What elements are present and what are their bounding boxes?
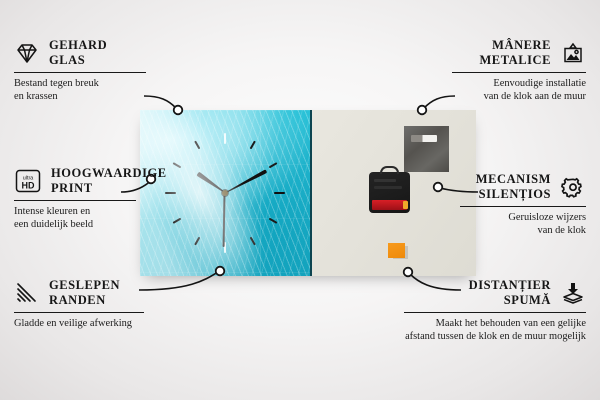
callout-description: Geruisloze wijzersvan de klok: [460, 211, 586, 238]
callout-gehard-glas[interactable]: GEHARDGLAS Bestand tegen breuken krassen: [14, 38, 146, 104]
callout-rule: [14, 312, 144, 313]
clock-mechanism: [369, 172, 410, 213]
callout-description: Eenvoudige installatievan de klok aan de…: [452, 77, 586, 104]
callout-rule: [404, 312, 586, 313]
foam-spacer: [388, 243, 405, 258]
callout-mecanism-silentios[interactable]: MECANISMSILENȚIOS Geruisloze wijzersvan …: [460, 172, 586, 238]
callout-geslepen-randen[interactable]: GESLEPENRANDEN Gladde en veilige afwerki…: [14, 278, 144, 330]
clock-minute-hand: [224, 169, 267, 195]
callout-title-row: GESLEPENRANDEN: [14, 278, 144, 308]
ultra-hd-icon: ultra HD: [14, 168, 42, 194]
callout-title-text: MÂNEREMETALICE: [452, 38, 551, 68]
clock-hour-hand: [196, 171, 227, 195]
clock-tick: [225, 192, 285, 194]
gear-icon: [560, 175, 586, 199]
callout-title-text: HOOGWAARDIGEPRINT: [51, 166, 167, 196]
callout-manere-metalice[interactable]: MÂNEREMETALICE Eenvoudige installatievan…: [452, 38, 586, 104]
clock-tick: [224, 141, 256, 194]
callout-title-row: MÂNEREMETALICE: [452, 38, 586, 68]
clock-tick: [224, 133, 226, 193]
callout-title-text: DISTANȚIERSPUMĂ: [404, 278, 551, 308]
callout-title-row: GEHARDGLAS: [14, 38, 146, 68]
callout-description: Gladde en veilige afwerking: [14, 317, 144, 330]
callout-title-text: MECANISMSILENȚIOS: [460, 172, 551, 202]
clock-back-view: [312, 110, 476, 276]
callout-rule: [14, 72, 146, 73]
callout-hoogwaardige-print[interactable]: ultra HD HOOGWAARDIGEPRINT Intense kleur…: [14, 166, 136, 232]
callout-rule: [452, 72, 586, 73]
mechanism-slot: [374, 179, 396, 182]
clock-tick: [173, 192, 226, 224]
clock-tick: [225, 192, 278, 224]
product-image: [140, 110, 476, 276]
mechanism-hook: [380, 166, 399, 174]
bevel-lines-icon: [14, 281, 40, 305]
clock-tick: [225, 162, 278, 194]
picture-hanger-icon: [560, 41, 586, 65]
callout-title-text: GEHARDGLAS: [49, 38, 107, 68]
svg-text:HD: HD: [22, 180, 35, 190]
clock-tick: [173, 162, 226, 194]
clock-tick: [194, 141, 226, 194]
clock-tick: [194, 193, 226, 246]
callout-rule: [460, 206, 586, 207]
clock-center-hub: [222, 190, 228, 196]
callout-rule: [14, 200, 136, 201]
callout-distantier-spuma[interactable]: DISTANȚIERSPUMĂ Maakt het behouden van e…: [404, 278, 586, 344]
callout-description: Bestand tegen breuken krassen: [14, 77, 146, 104]
clock-tick: [224, 193, 226, 253]
mechanism-slot-secondary: [374, 186, 402, 189]
arrow-into-layers-icon: [560, 281, 586, 305]
callout-description: Intense kleuren eneen duidelijk beeld: [14, 205, 136, 232]
callout-title-text: GESLEPENRANDEN: [49, 278, 120, 308]
metal-hanger-plate: [404, 126, 449, 172]
clock-second-hand: [223, 193, 225, 247]
battery: [372, 200, 407, 210]
callout-title-row: DISTANȚIERSPUMĂ: [404, 278, 586, 308]
diamond-icon: [14, 41, 40, 65]
clock-tick: [224, 193, 256, 246]
infographic-stage: GEHARDGLAS Bestand tegen breuken krassen…: [0, 0, 600, 400]
callout-title-row: MECANISMSILENȚIOS: [460, 172, 586, 202]
callout-title-row: ultra HD HOOGWAARDIGEPRINT: [14, 166, 136, 196]
callout-description: Maakt het behouden van een gelijkeafstan…: [404, 317, 586, 344]
clock-tick: [165, 192, 225, 194]
